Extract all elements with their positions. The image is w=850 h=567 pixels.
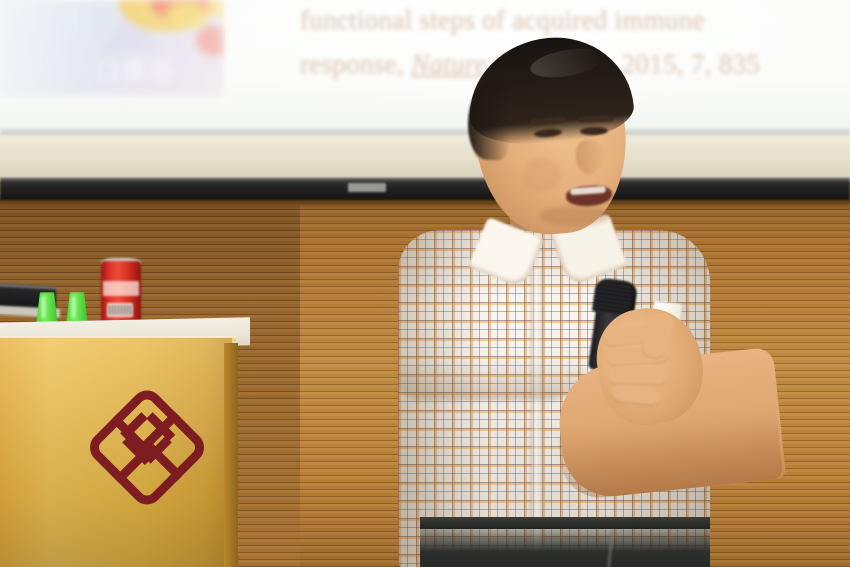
inset-washout: [0, 0, 222, 95]
hair-sideburn: [468, 82, 510, 160]
chin-shadow: [540, 206, 610, 226]
cup-highlight: [71, 296, 76, 318]
podium-side: [224, 343, 238, 567]
can-label-band: [103, 281, 139, 296]
sleeve-hem: [398, 360, 588, 400]
lecture-photo: 口微扬 functional steps of acquired immune …: [0, 0, 850, 567]
speaker: [380, 30, 780, 567]
finger-ring: [608, 365, 667, 385]
can-barcode: [109, 305, 131, 315]
nose: [576, 140, 602, 174]
eyebrow-right: [578, 115, 614, 122]
cheek: [522, 158, 562, 192]
cup-highlight: [41, 296, 46, 318]
trousers: [420, 520, 710, 567]
